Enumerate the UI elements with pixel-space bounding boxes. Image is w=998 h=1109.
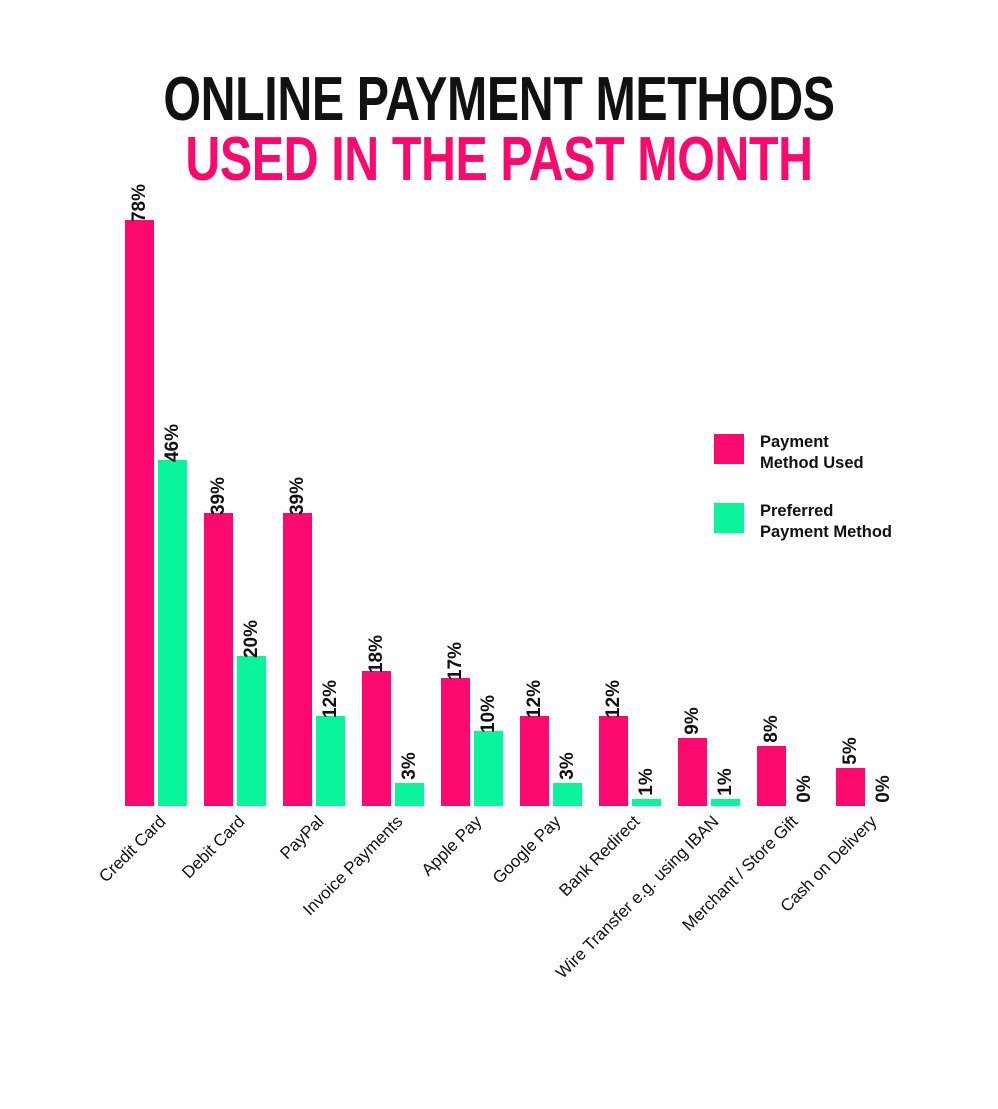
bar-used[interactable] [362,671,391,806]
legend-swatch-pink-icon [714,434,744,464]
x-axis-label: Bank Redirect [347,812,644,1109]
bar-slot: 17% [441,220,470,806]
bar-group: 39%12% [283,220,345,806]
bar-slot: 78% [125,220,154,806]
bar-group: 12%3% [520,220,582,806]
x-axis-label: Invoice Payments [110,812,407,1109]
bar-used[interactable] [204,513,233,806]
bar-slot: 18% [362,220,391,806]
x-axis-label: Wire Transfer e.g. using IBAN [426,812,723,1109]
legend-swatch-green-icon [714,503,744,533]
x-axis-label: Apple Pay [189,812,486,1109]
bar-used[interactable] [441,678,470,806]
bar-slot: 9% [678,220,707,806]
bar-group: 18%3% [362,220,424,806]
bar-pref[interactable] [237,656,266,806]
legend-label-preferred-payment-method: Preferred Payment Method [760,501,892,542]
bar-slot: 46% [158,220,187,806]
bar-slot: 12% [520,220,549,806]
bar-slot: 10% [474,220,503,806]
bar-used[interactable] [520,716,549,806]
bar-group: 12%1% [599,220,661,806]
bar-pref[interactable] [316,716,345,806]
bar-slot: 12% [316,220,345,806]
bar-group: 78%46% [125,220,187,806]
bar-used[interactable] [599,716,628,806]
bar-group: 39%20% [204,220,266,806]
x-axis-label: PayPal [31,812,328,1109]
x-axis-labels: Credit CardDebit CardPayPalInvoice Payme… [110,806,900,1036]
bar-slot: 39% [204,220,233,806]
chart-legend: Payment Method Used Preferred Payment Me… [714,432,944,571]
bar-slot: 3% [553,220,582,806]
bar-slot: 12% [599,220,628,806]
x-axis-label: Merchant / Store Gift [505,812,802,1109]
x-axis-label: Google Pay [268,812,565,1109]
bar-group: 17%10% [441,220,503,806]
legend-item-payment-method-used[interactable]: Payment Method Used [714,432,944,473]
bar-pref[interactable] [158,460,187,806]
chart-title-line-2: Used in the Past Month [110,130,888,190]
bar-slot: 1% [632,220,661,806]
bar-slot: 3% [395,220,424,806]
legend-label-payment-method-used: Payment Method Used [760,432,864,473]
x-axis-label: Cash on Delivery [584,812,881,1109]
legend-item-preferred-payment-method[interactable]: Preferred Payment Method [714,501,944,542]
bar-slot: 39% [283,220,312,806]
bar-slot: 20% [237,220,266,806]
bar-used[interactable] [283,513,312,806]
bar-used[interactable] [125,220,154,806]
chart-title-line-1: Online Payment Methods [110,70,888,130]
